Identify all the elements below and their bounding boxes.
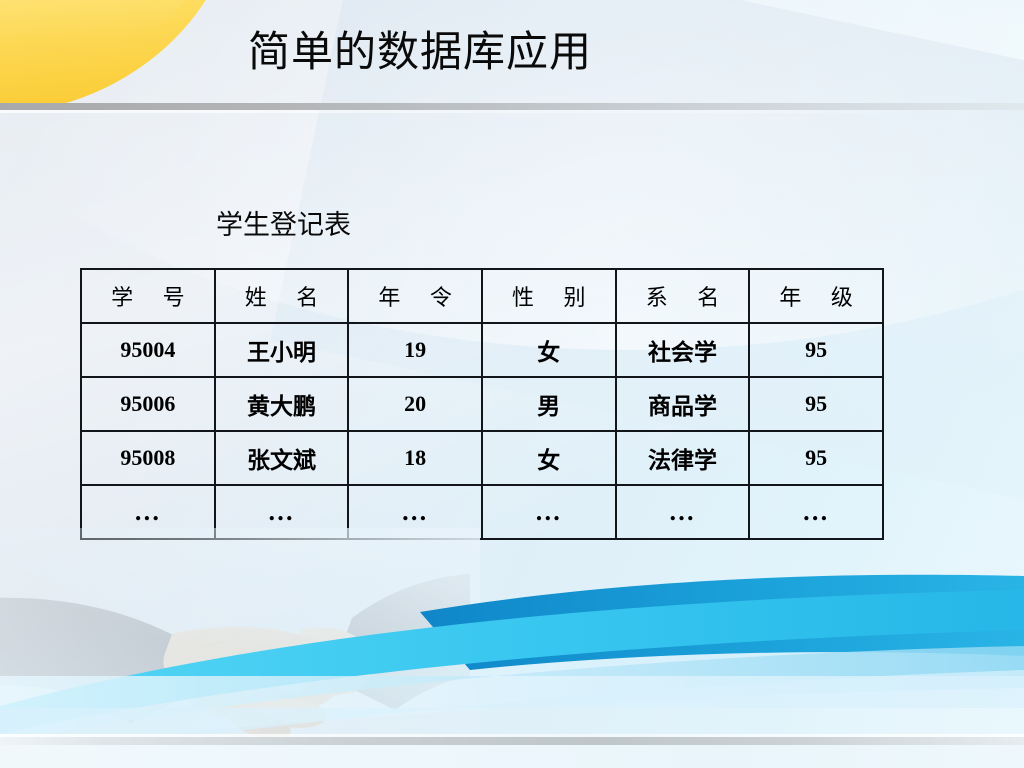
table-header-cell: 性 别 bbox=[482, 269, 616, 323]
table-cell: 95 bbox=[749, 377, 883, 431]
table-cell: 19 bbox=[348, 323, 482, 377]
table-row: 95004王小明19女社会学95 bbox=[81, 323, 883, 377]
table-cell: 95 bbox=[749, 323, 883, 377]
table-row: 95008张文斌18女法律学95 bbox=[81, 431, 883, 485]
table-header-cell: 系 名 bbox=[616, 269, 750, 323]
table-header-cell: 年 级 bbox=[749, 269, 883, 323]
table-header-cell: 学 号 bbox=[81, 269, 215, 323]
table-ellipsis-cell: … bbox=[215, 485, 349, 539]
table-ellipsis-cell: … bbox=[616, 485, 750, 539]
table-cell: 18 bbox=[348, 431, 482, 485]
yellow-arc-gloss bbox=[0, 0, 230, 104]
table-ellipsis-row: ……………… bbox=[81, 485, 883, 539]
table-cell: 王小明 bbox=[215, 323, 349, 377]
table-caption: 学生登记表 bbox=[216, 203, 351, 242]
table-cell: 95008 bbox=[81, 431, 215, 485]
footer-divider-rule bbox=[0, 737, 1024, 745]
yellow-arc-decoration bbox=[0, 0, 240, 104]
table-cell: 95 bbox=[749, 431, 883, 485]
table-ellipsis-cell: … bbox=[482, 485, 616, 539]
student-registration-table: 学 号姓 名年 令性 别系 名年 级95004王小明19女社会学9595006黄… bbox=[80, 268, 884, 540]
header-divider-rule bbox=[0, 103, 1024, 110]
table-cell: 黄大鹏 bbox=[215, 377, 349, 431]
table-ellipsis-cell: … bbox=[81, 485, 215, 539]
table-header-row: 学 号姓 名年 令性 别系 名年 级 bbox=[81, 269, 883, 323]
table-cell: 95004 bbox=[81, 323, 215, 377]
table-ellipsis-cell: … bbox=[749, 485, 883, 539]
table-cell: 法律学 bbox=[616, 431, 750, 485]
table-row: 95006黄大鹏20男商品学95 bbox=[81, 377, 883, 431]
table-cell: 张文斌 bbox=[215, 431, 349, 485]
table-cell: 95006 bbox=[81, 377, 215, 431]
table-header-cell: 年 令 bbox=[348, 269, 482, 323]
table-header-cell: 姓 名 bbox=[215, 269, 349, 323]
footer-strip bbox=[0, 745, 1024, 768]
slide-canvas: 简单的数据库应用 学生登记表 学 号姓 名年 令性 别系 名年 级95004王小… bbox=[0, 0, 1024, 768]
table-container: 学 号姓 名年 令性 别系 名年 级95004王小明19女社会学9595006黄… bbox=[80, 268, 884, 540]
header-divider-highlight bbox=[0, 110, 1024, 113]
table-cell: 20 bbox=[348, 377, 482, 431]
table-cell: 女 bbox=[482, 431, 616, 485]
table-cell: 商品学 bbox=[616, 377, 750, 431]
slide-title: 简单的数据库应用 bbox=[248, 28, 592, 76]
table-cell: 男 bbox=[482, 377, 616, 431]
table-cell: 女 bbox=[482, 323, 616, 377]
table-cell: 社会学 bbox=[616, 323, 750, 377]
table-ellipsis-cell: … bbox=[348, 485, 482, 539]
handshake-image-fade-overlay bbox=[0, 528, 480, 768]
